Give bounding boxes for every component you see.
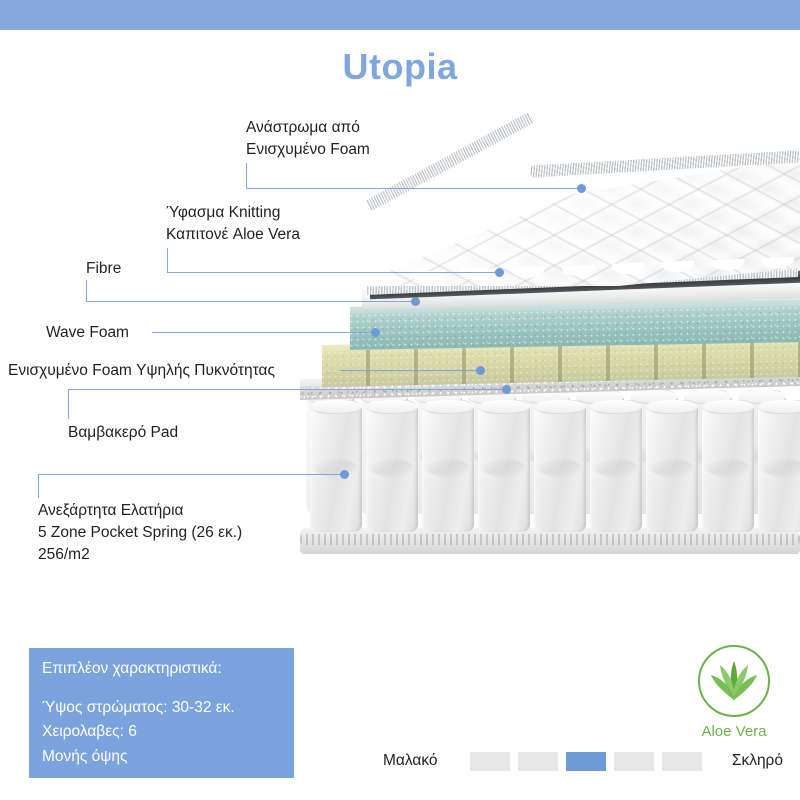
firmness-hard-label: Σκληρό (732, 752, 783, 770)
callout-topper-foam-leader-v (246, 163, 247, 189)
additional-features-box: Επιπλέον χαρακτηριστικά: Ύψος στρώματος:… (29, 648, 294, 778)
pocket-spring (646, 400, 698, 532)
pocket-spring (422, 400, 474, 532)
callout-cotton-pad-leader-v (68, 389, 69, 419)
additional-features-list: Ύψος στρώματος: 30-32 εκ. Χειρολαβες: 6 … (42, 696, 235, 769)
callout-knitting-dot (495, 268, 504, 277)
callout-springs-leader-h (38, 474, 344, 475)
firmness-segment-3[interactable] (566, 752, 606, 771)
callout-topper-foam-dot (577, 184, 586, 193)
additional-features-heading: Επιπλέον χαρακτηριστικά: (42, 660, 222, 678)
callout-pocket-springs-label: Ανεξάρτητα Ελατήρια 5 Zone Pocket Spring… (38, 500, 368, 566)
aloe-vera-badge: Aloe Vera (682, 645, 786, 751)
pocket-spring-field (300, 390, 800, 540)
callout-fibre-leader-v (86, 280, 87, 302)
callout-cotton-pad-dot (502, 385, 511, 394)
callout-knitting-leader-h (167, 272, 499, 273)
callout-topper-foam-label: Ανάστρωμα από Ενισχυμένο Foam (246, 117, 546, 161)
pocket-spring (478, 400, 530, 532)
callout-fibre-label: Fibre (86, 258, 206, 280)
callout-wave-foam-leader-h (152, 332, 375, 333)
callout-hd-foam-dot (476, 366, 485, 375)
callout-cotton-pad-label: Βαμβακερό Pad (68, 422, 288, 444)
firmness-segment-1[interactable] (470, 752, 510, 771)
callout-wave-foam-dot (371, 328, 380, 337)
callout-fibre-leader-h (86, 301, 415, 302)
mattress-infographic: Utopia (0, 0, 800, 800)
callout-knitting-fabric-label: Ύφασμα Knitting Καπιτονέ Aloe Vera (166, 202, 486, 246)
pocket-spring (702, 400, 754, 532)
callout-topper-foam-leader-h (246, 188, 581, 189)
callout-cotton-pad-leader-h (68, 389, 506, 390)
callout-hd-foam-leader-h (340, 370, 480, 371)
firmness-segment-4[interactable] (614, 752, 654, 771)
callout-wave-foam-label: Wave Foam (46, 322, 226, 344)
callout-fibre-dot (411, 297, 420, 306)
callout-high-density-foam-label: Ενισχυμένο Foam Υψηλής Πυκνότητας (8, 360, 358, 382)
aloe-vera-label: Aloe Vera (682, 723, 786, 740)
firmness-scale: Μαλακό Σκληρό (383, 750, 783, 774)
pocket-spring (366, 400, 418, 532)
firmness-segment-2[interactable] (518, 752, 558, 771)
firmness-segment-5[interactable] (662, 752, 702, 771)
pocket-spring (534, 400, 586, 532)
firmness-soft-label: Μαλακό (383, 752, 438, 770)
callout-springs-leader-v (38, 474, 39, 498)
pocket-spring (590, 400, 642, 532)
aloe-plant-icon (698, 645, 770, 717)
callout-springs-dot (340, 470, 349, 479)
pocket-spring (758, 400, 800, 532)
